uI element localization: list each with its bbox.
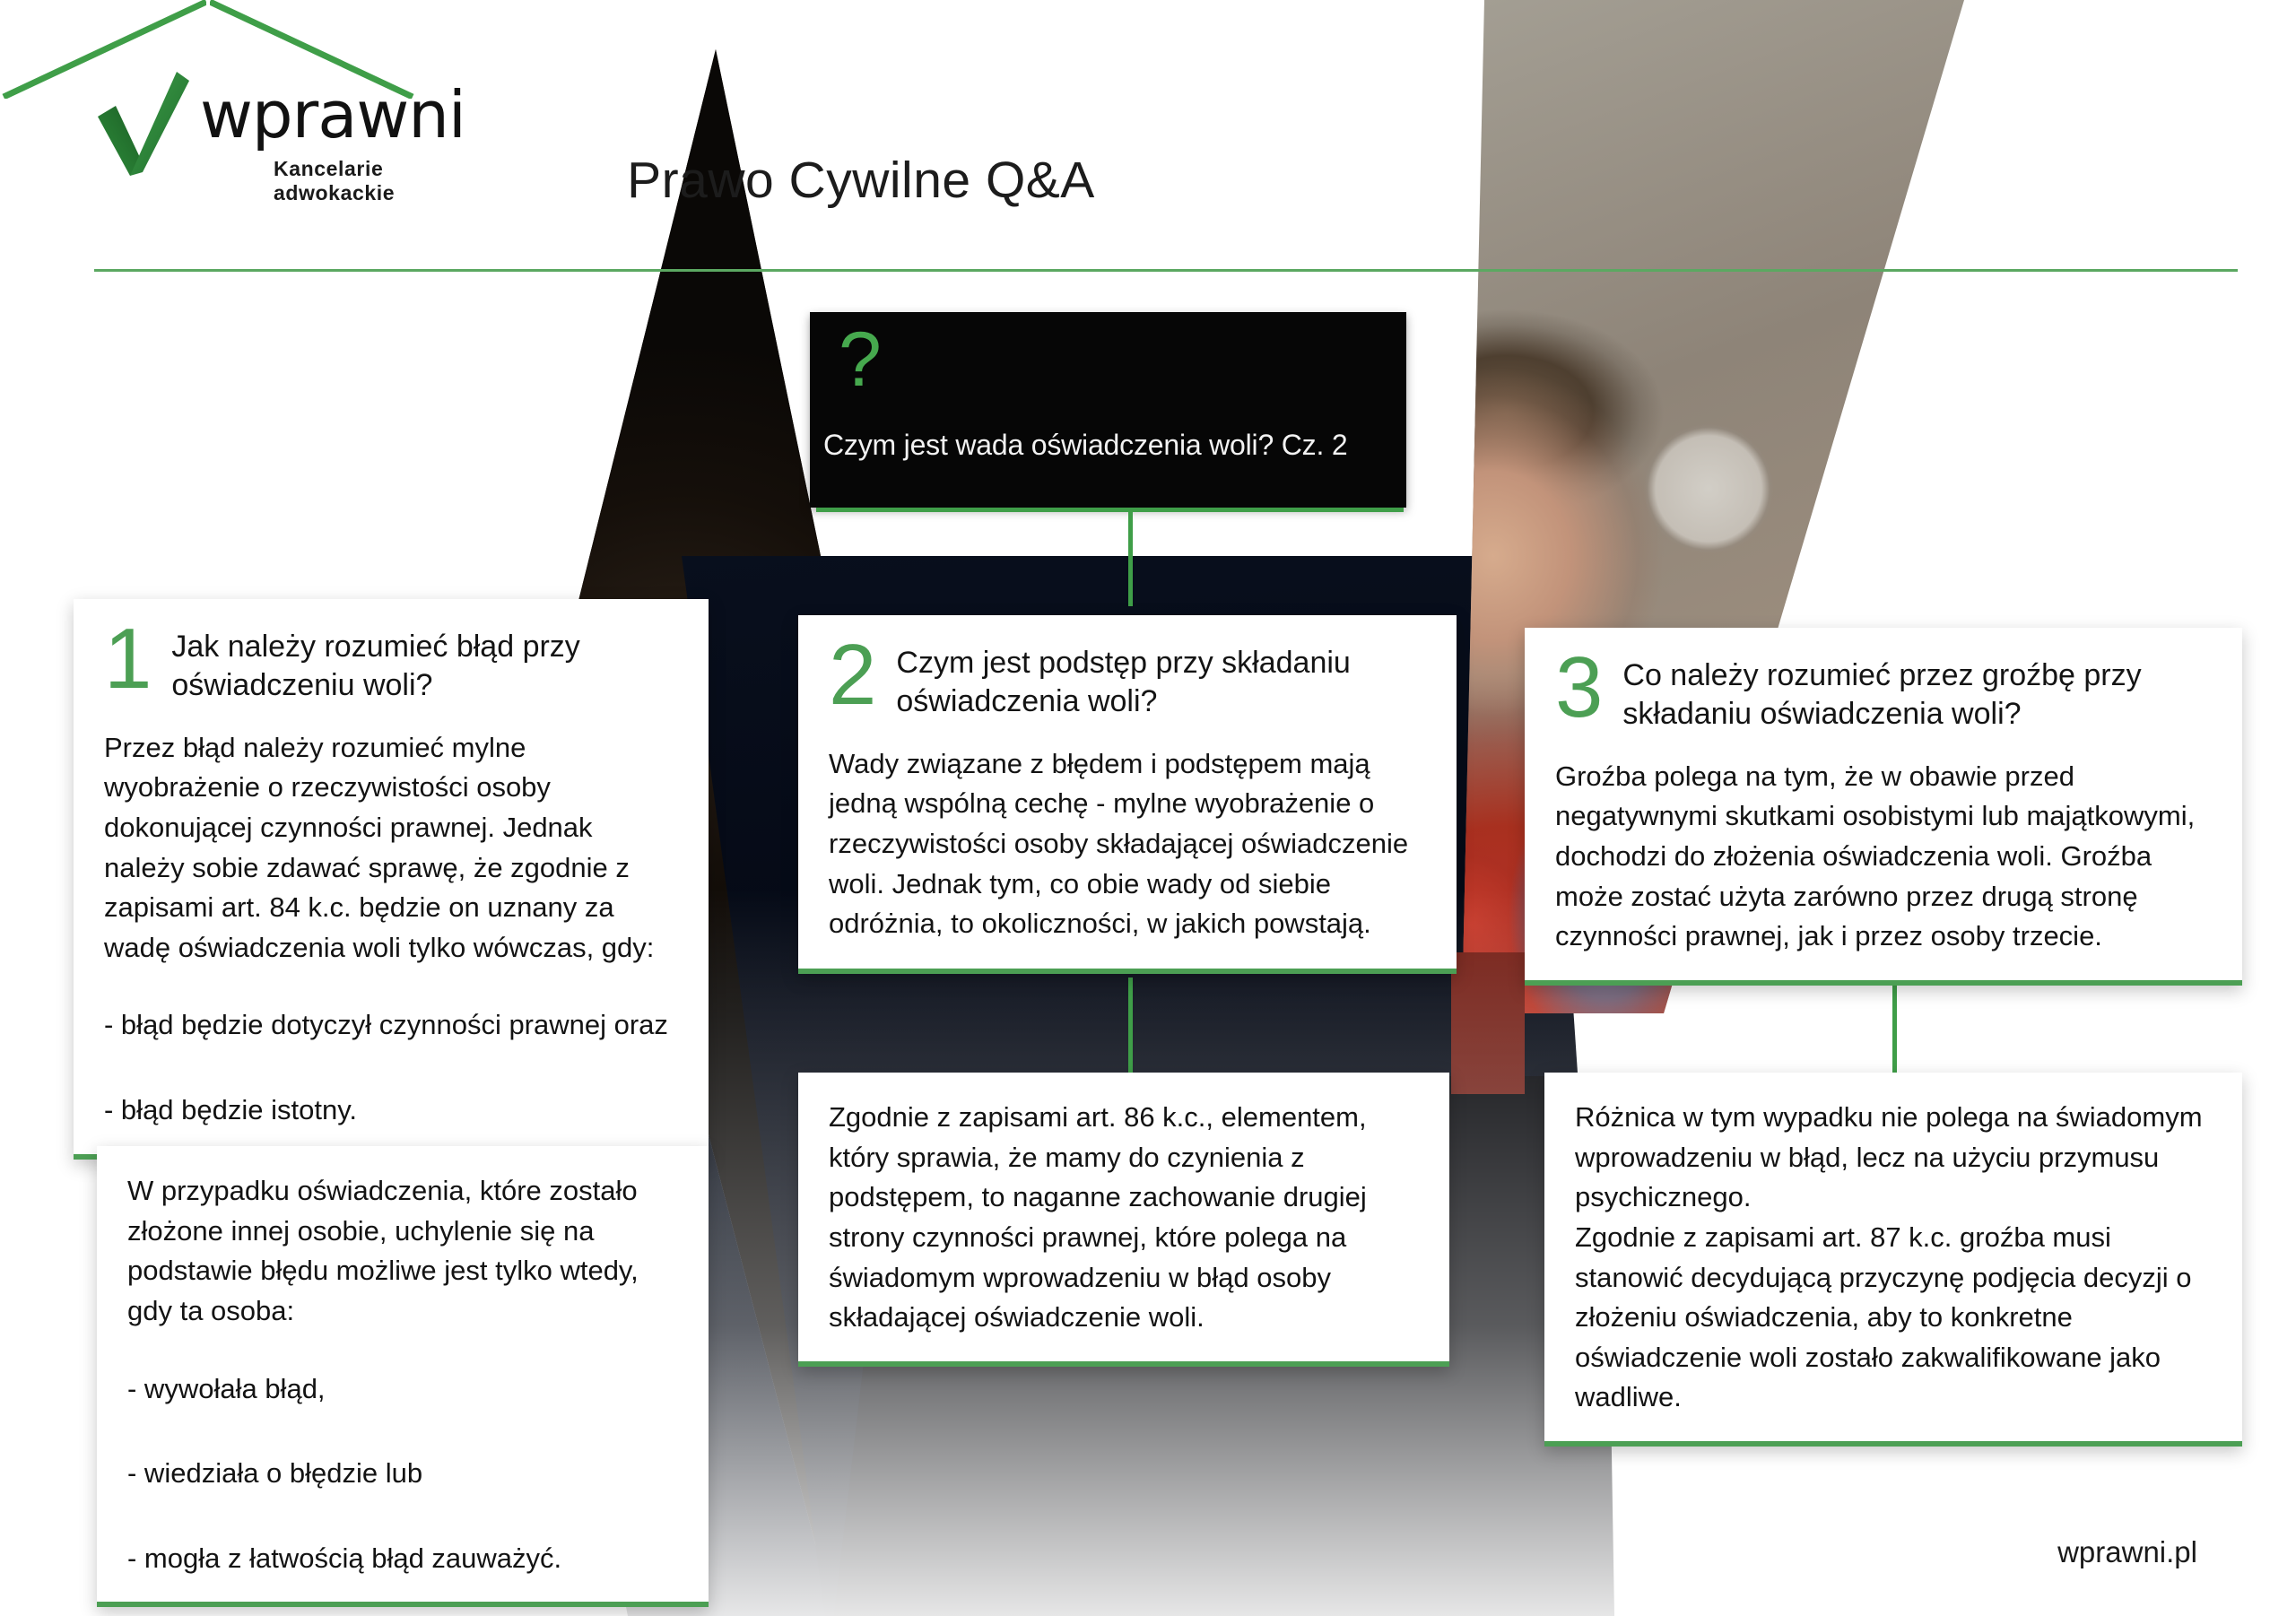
card-1-followup: W przypadku oświadczenia, które zostało …: [97, 1146, 709, 1607]
card-1-number: 1: [104, 624, 152, 695]
question-banner-text: Czym jest wada oświadczenia woli? Cz. 2: [823, 429, 1397, 462]
connector-vertical-card3-followup: [1892, 977, 1897, 1076]
card-3-followup: Różnica w tym wypadku nie polega na świa…: [1544, 1073, 2242, 1447]
card-1-followup-bullet: - wywołała błąd,: [127, 1369, 678, 1410]
connector-horizontal-main: [816, 508, 1404, 512]
card-3-body: Groźba polega na tym, że w obawie przed …: [1555, 757, 2212, 957]
card-1-bullet: - błąd będzie istotny.: [104, 1090, 678, 1131]
card-2-question: Czym jest podstęp przy składaniu oświadc…: [896, 640, 1426, 721]
question-mark-icon: ?: [839, 321, 882, 398]
card-2-body: Wady związane z błędem i podstępem mają …: [829, 744, 1426, 944]
card-1-header: 1 Jak należy rozumieć błąd przy oświadcz…: [104, 624, 678, 705]
card-1-followup-bullets: - wywołała błąd, - wiedziała o błędzie l…: [127, 1369, 678, 1579]
connector-vertical-card2-followup: [1128, 977, 1133, 1076]
question-banner: [810, 312, 1406, 508]
card-1-followup-bullet: - mogła z łatwością błąd zauważyć.: [127, 1539, 678, 1579]
infographic-canvas: wprawni Kancelarie adwokackie Prawo Cywi…: [0, 0, 2296, 1616]
card-1-bullets: - błąd będzie dotyczył czynności prawnej…: [104, 1005, 678, 1130]
page-title: Prawo Cywilne Q&A: [0, 151, 2009, 210]
card-2-followup: Zgodnie z zapisami art. 86 k.c., element…: [798, 1073, 1449, 1367]
card-2: 2 Czym jest podstęp przy składaniu oświa…: [798, 615, 1457, 974]
card-1-bullet: - błąd będzie dotyczył czynności prawnej…: [104, 1005, 678, 1046]
card-3-followup-body: Różnica w tym wypadku nie polega na świa…: [1575, 1098, 2212, 1418]
card-3-header: 3 Co należy rozumieć przez groźbę przy s…: [1555, 653, 2212, 734]
brand-wordmark: wprawni: [200, 77, 465, 152]
card-2-header: 2 Czym jest podstęp przy składaniu oświa…: [829, 640, 1426, 721]
card-1: 1 Jak należy rozumieć błąd przy oświadcz…: [74, 599, 709, 1160]
card-1-question: Jak należy rozumieć błąd przy oświadczen…: [171, 624, 678, 705]
connector-vertical-to-card2: [1128, 508, 1133, 606]
card-3-number: 3: [1555, 653, 1603, 724]
footer-website-url[interactable]: wprawni.pl: [2057, 1535, 2197, 1569]
card-2-followup-body: Zgodnie z zapisami art. 86 k.c., element…: [829, 1098, 1419, 1338]
card-1-followup-bullet: - wiedziała o błędzie lub: [127, 1454, 678, 1494]
card-1-followup-body: W przypadku oświadczenia, które zostało …: [127, 1171, 678, 1332]
card-3: 3 Co należy rozumieć przez groźbę przy s…: [1525, 628, 2242, 986]
card-1-body: Przez błąd należy rozumieć mylne wyobraż…: [104, 728, 678, 969]
card-2-number: 2: [829, 640, 876, 711]
header-divider-rule: [94, 269, 2238, 272]
card-3-question: Co należy rozumieć przez groźbę przy skł…: [1622, 653, 2212, 734]
